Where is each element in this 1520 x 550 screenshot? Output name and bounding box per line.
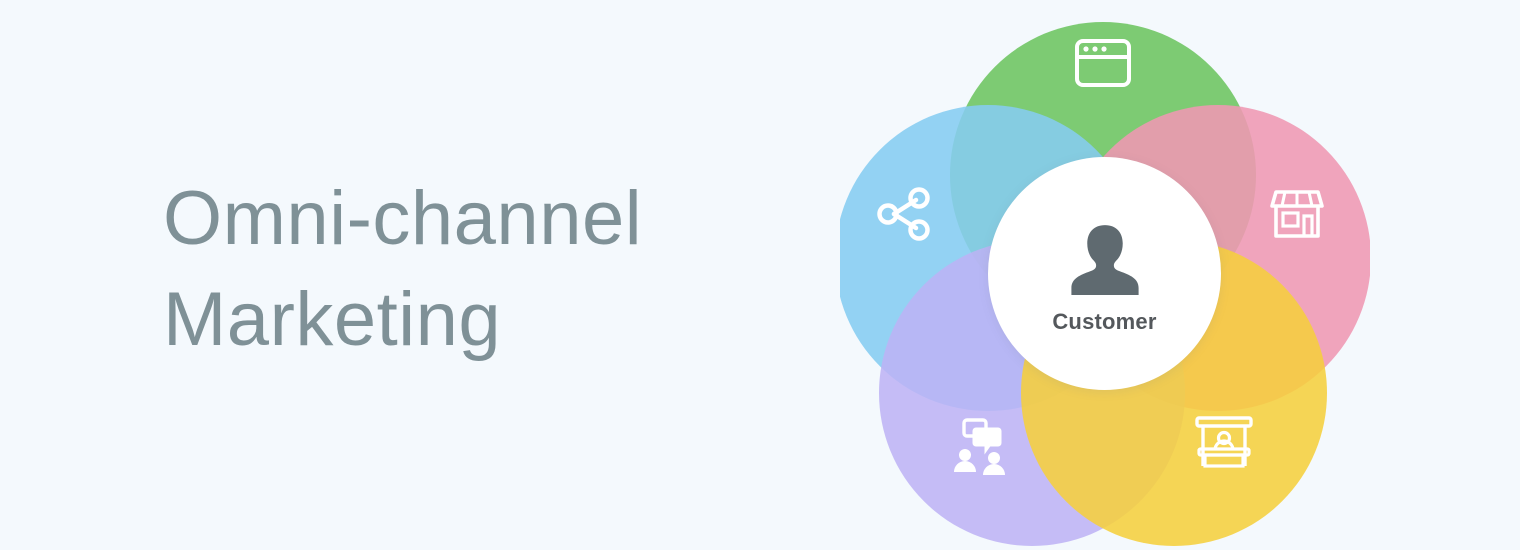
venn-center-hub: Customer [988,157,1221,390]
venn-diagram: Customer [840,0,1370,550]
person-avatar-icon [1062,217,1148,303]
customer-label: Customer [1052,309,1156,335]
page-title-line-2: Marketing [163,269,783,370]
page-title: Omni-channel Marketing [163,168,783,370]
omni-channel-marketing-banner: Omni-channel Marketing [0,0,1520,550]
page-title-line-1: Omni-channel [163,168,783,269]
